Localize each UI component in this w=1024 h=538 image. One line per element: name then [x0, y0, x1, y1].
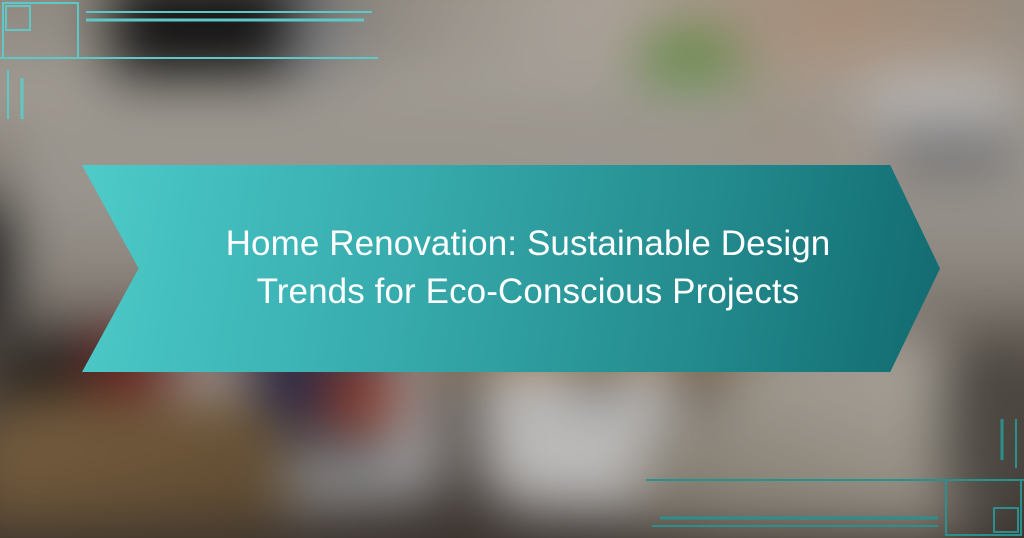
page-title: Home Renovation: Sustainable Design Tren…	[134, 220, 888, 318]
banner-canvas: Home Renovation: Sustainable Design Tren…	[0, 0, 1024, 538]
title-banner: Home Renovation: Sustainable Design Tren…	[82, 165, 940, 372]
